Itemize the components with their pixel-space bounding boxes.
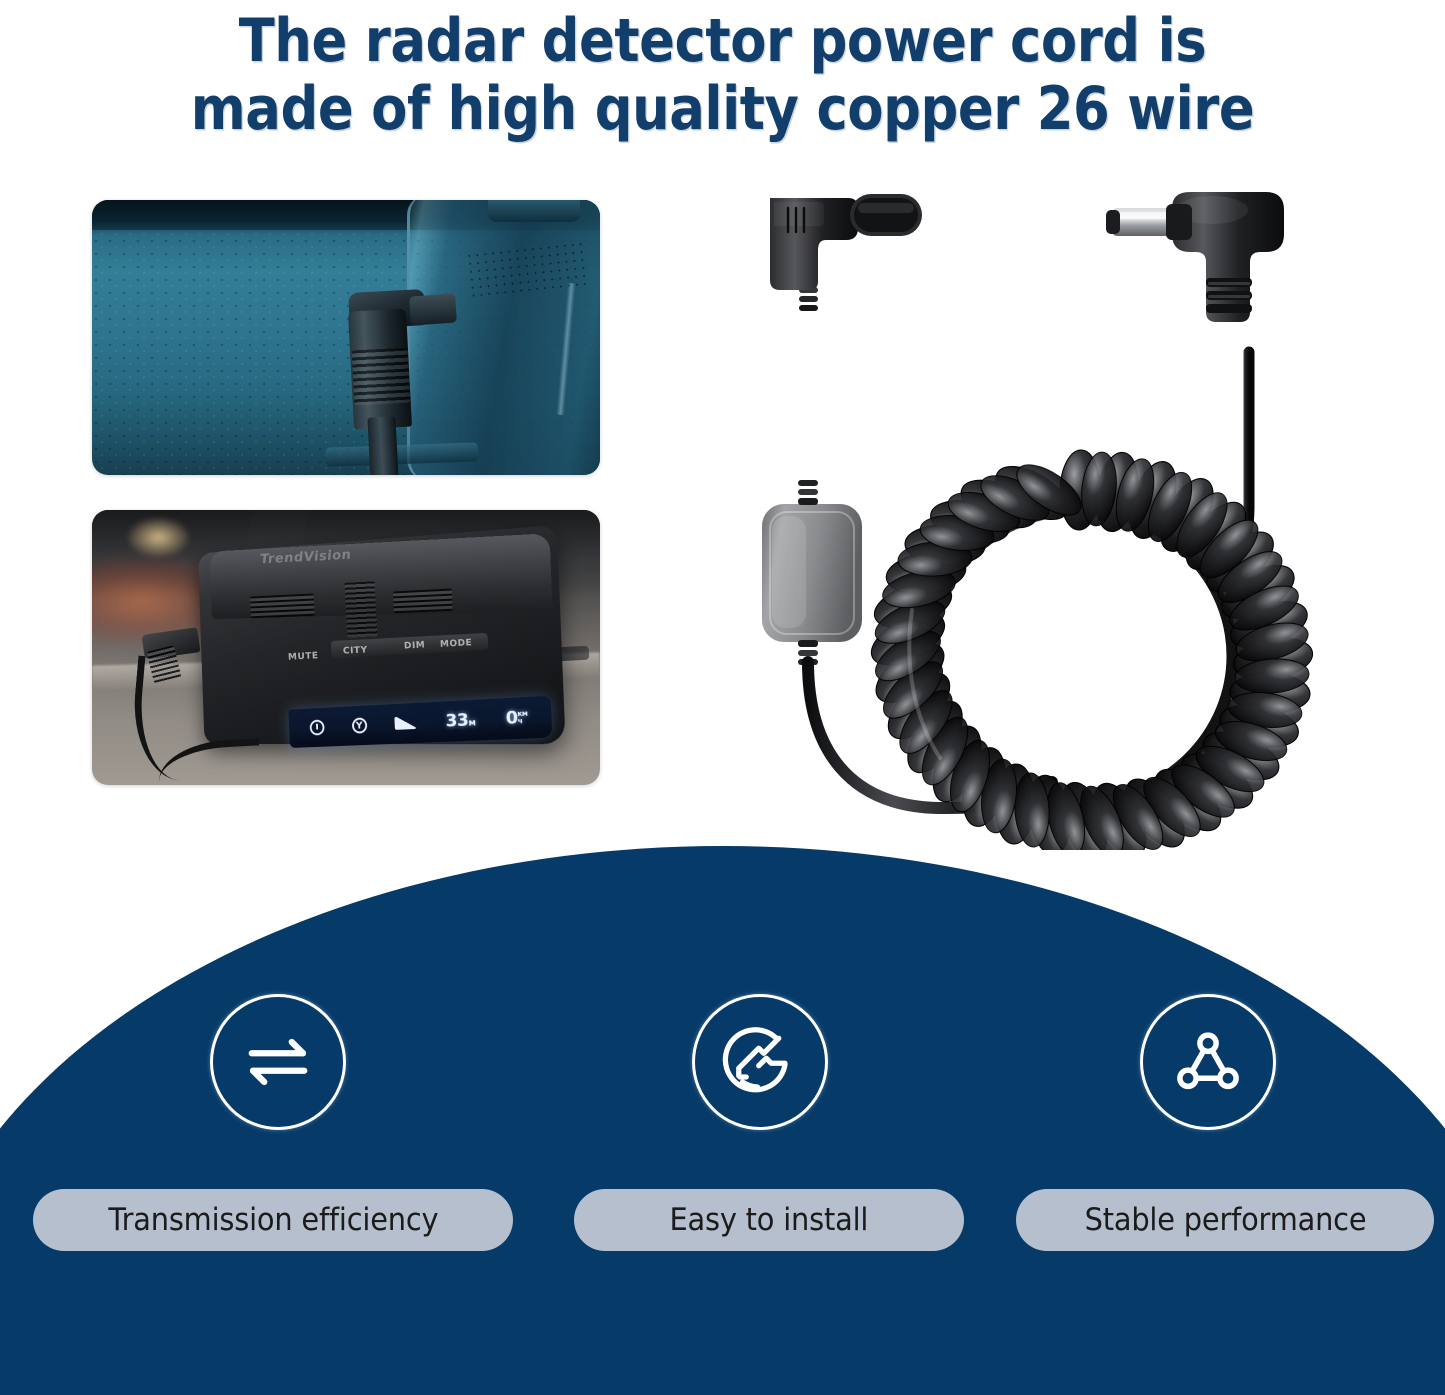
photo-inner: TrendVision MUTE CITY DIM MODE 33м 0кмч <box>92 510 600 785</box>
bokeh-light <box>128 518 189 557</box>
usb-c-connector <box>770 194 922 504</box>
feature-label-stable-performance[interactable]: Stable performance <box>1016 1189 1434 1251</box>
photo-inner <box>92 200 600 475</box>
plug-cable <box>367 417 398 475</box>
center-ridge <box>345 581 378 638</box>
vent-left <box>251 594 316 619</box>
feature-icon-circle <box>210 994 346 1130</box>
device-button-mute: MUTE <box>287 651 318 663</box>
radar-detector-photo: TrendVision MUTE CITY DIM MODE 33м 0кмч <box>92 510 600 785</box>
feature-easy-to-install <box>610 994 910 1130</box>
feature-transmission-efficiency <box>128 994 428 1130</box>
display-speed-value: 0кмч <box>505 707 528 729</box>
distance-number: 33 <box>445 710 469 731</box>
feature-label-transmission-efficiency[interactable]: Transmission efficiency <box>33 1189 513 1251</box>
product-cable-illustration <box>700 170 1445 850</box>
transfer-arrows-icon <box>238 1022 318 1102</box>
feature-stable-performance <box>1058 994 1358 1130</box>
device-button-mode: MODE <box>440 638 473 650</box>
device-button-city: CITY <box>343 645 368 656</box>
triangle-nodes-icon <box>1168 1022 1248 1102</box>
device-button-dim: DIM <box>404 640 426 651</box>
dashboard-plug-photo <box>92 200 600 475</box>
display-icon-radar <box>309 719 324 735</box>
feature-icon-circle <box>692 994 828 1130</box>
product-feature-image: The radar detector power cord is made of… <box>0 0 1445 1395</box>
barrel-plug-nose <box>409 293 457 325</box>
display-distance-value: 33м <box>445 709 476 731</box>
pill-text: Easy to install <box>670 1202 869 1238</box>
pill-text: Stable performance <box>1084 1202 1366 1238</box>
speed-unit: кмч <box>517 710 528 724</box>
inline-module <box>762 480 862 665</box>
display-icon-signal-y <box>351 717 367 733</box>
speed-unit-bottom: ч <box>517 716 522 724</box>
display-icon-signal-bars <box>395 716 417 730</box>
pill-text: Transmission efficiency <box>108 1202 438 1238</box>
speed-number: 0 <box>505 707 518 728</box>
feature-icon-circle <box>1140 994 1276 1130</box>
device-top-edge <box>488 200 579 222</box>
barrel-plug-grip-ribs <box>352 347 411 405</box>
distance-unit: м <box>468 718 475 729</box>
feature-label-easy-to-install[interactable]: Easy to install <box>574 1189 964 1251</box>
wrench-rotate-icon <box>720 1022 800 1102</box>
vent-right <box>393 588 453 613</box>
page-title: The radar detector power cord is made of… <box>87 8 1359 144</box>
features-panel <box>0 846 1445 1395</box>
windshield-mount <box>246 510 308 549</box>
